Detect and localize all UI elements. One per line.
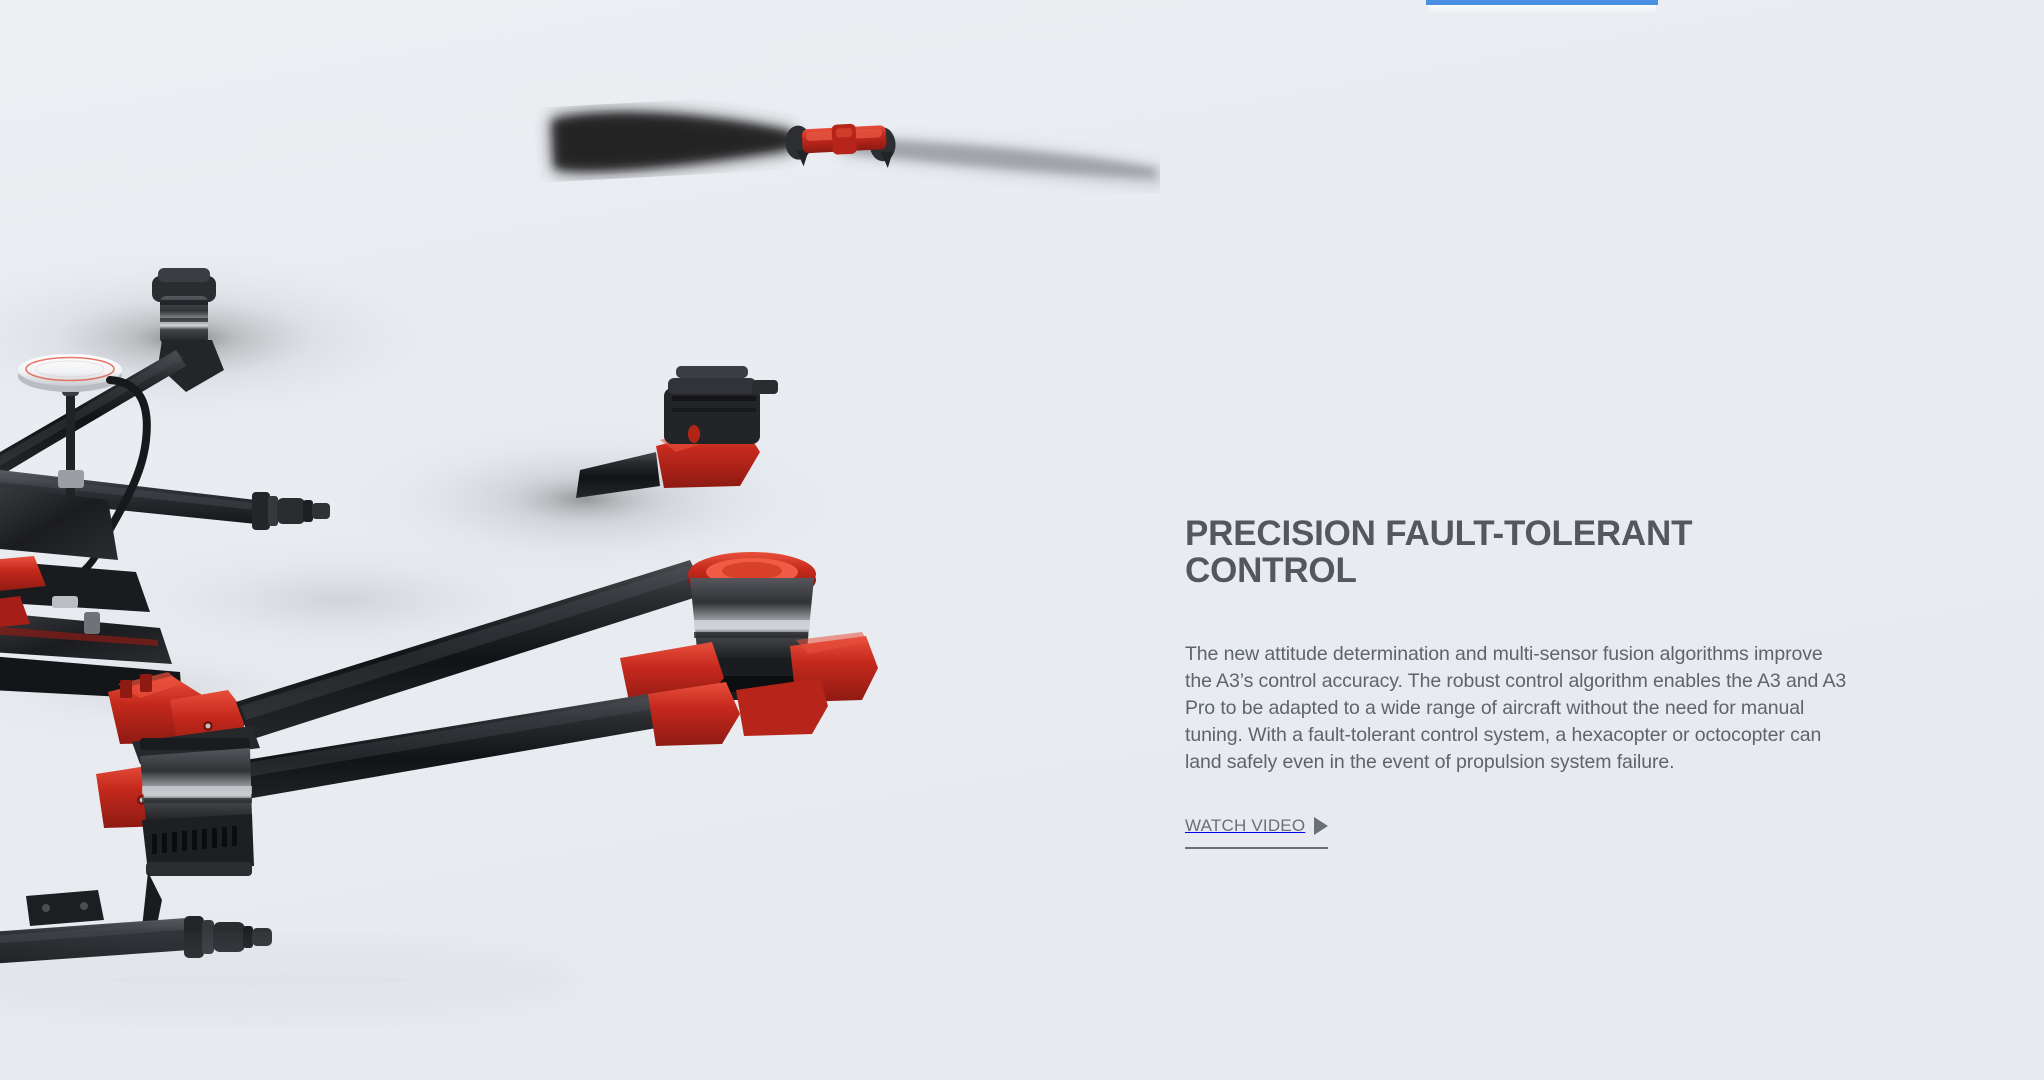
- page-canvas: PRECISION FAULT-TOLERANT CONTROL The new…: [0, 0, 2044, 1080]
- watch-video-link[interactable]: WATCH VIDEO: [1185, 816, 1328, 849]
- watch-video-label: WATCH VIDEO: [1185, 816, 1305, 836]
- feature-description: The new attitude determination and multi…: [1185, 641, 1850, 776]
- drone-hero-image: [0, 0, 1160, 1080]
- page-title: PRECISION FAULT-TOLERANT CONTROL: [1185, 515, 1745, 589]
- feature-text-block: PRECISION FAULT-TOLERANT CONTROL The new…: [1185, 515, 1855, 849]
- play-icon: [1314, 817, 1328, 835]
- landing-gear-motor: [132, 726, 260, 930]
- detached-propeller: [550, 82, 1160, 218]
- top-accent-bar-wrap: [1426, 0, 1658, 14]
- progress-bar-panel: [1428, 5, 1656, 14]
